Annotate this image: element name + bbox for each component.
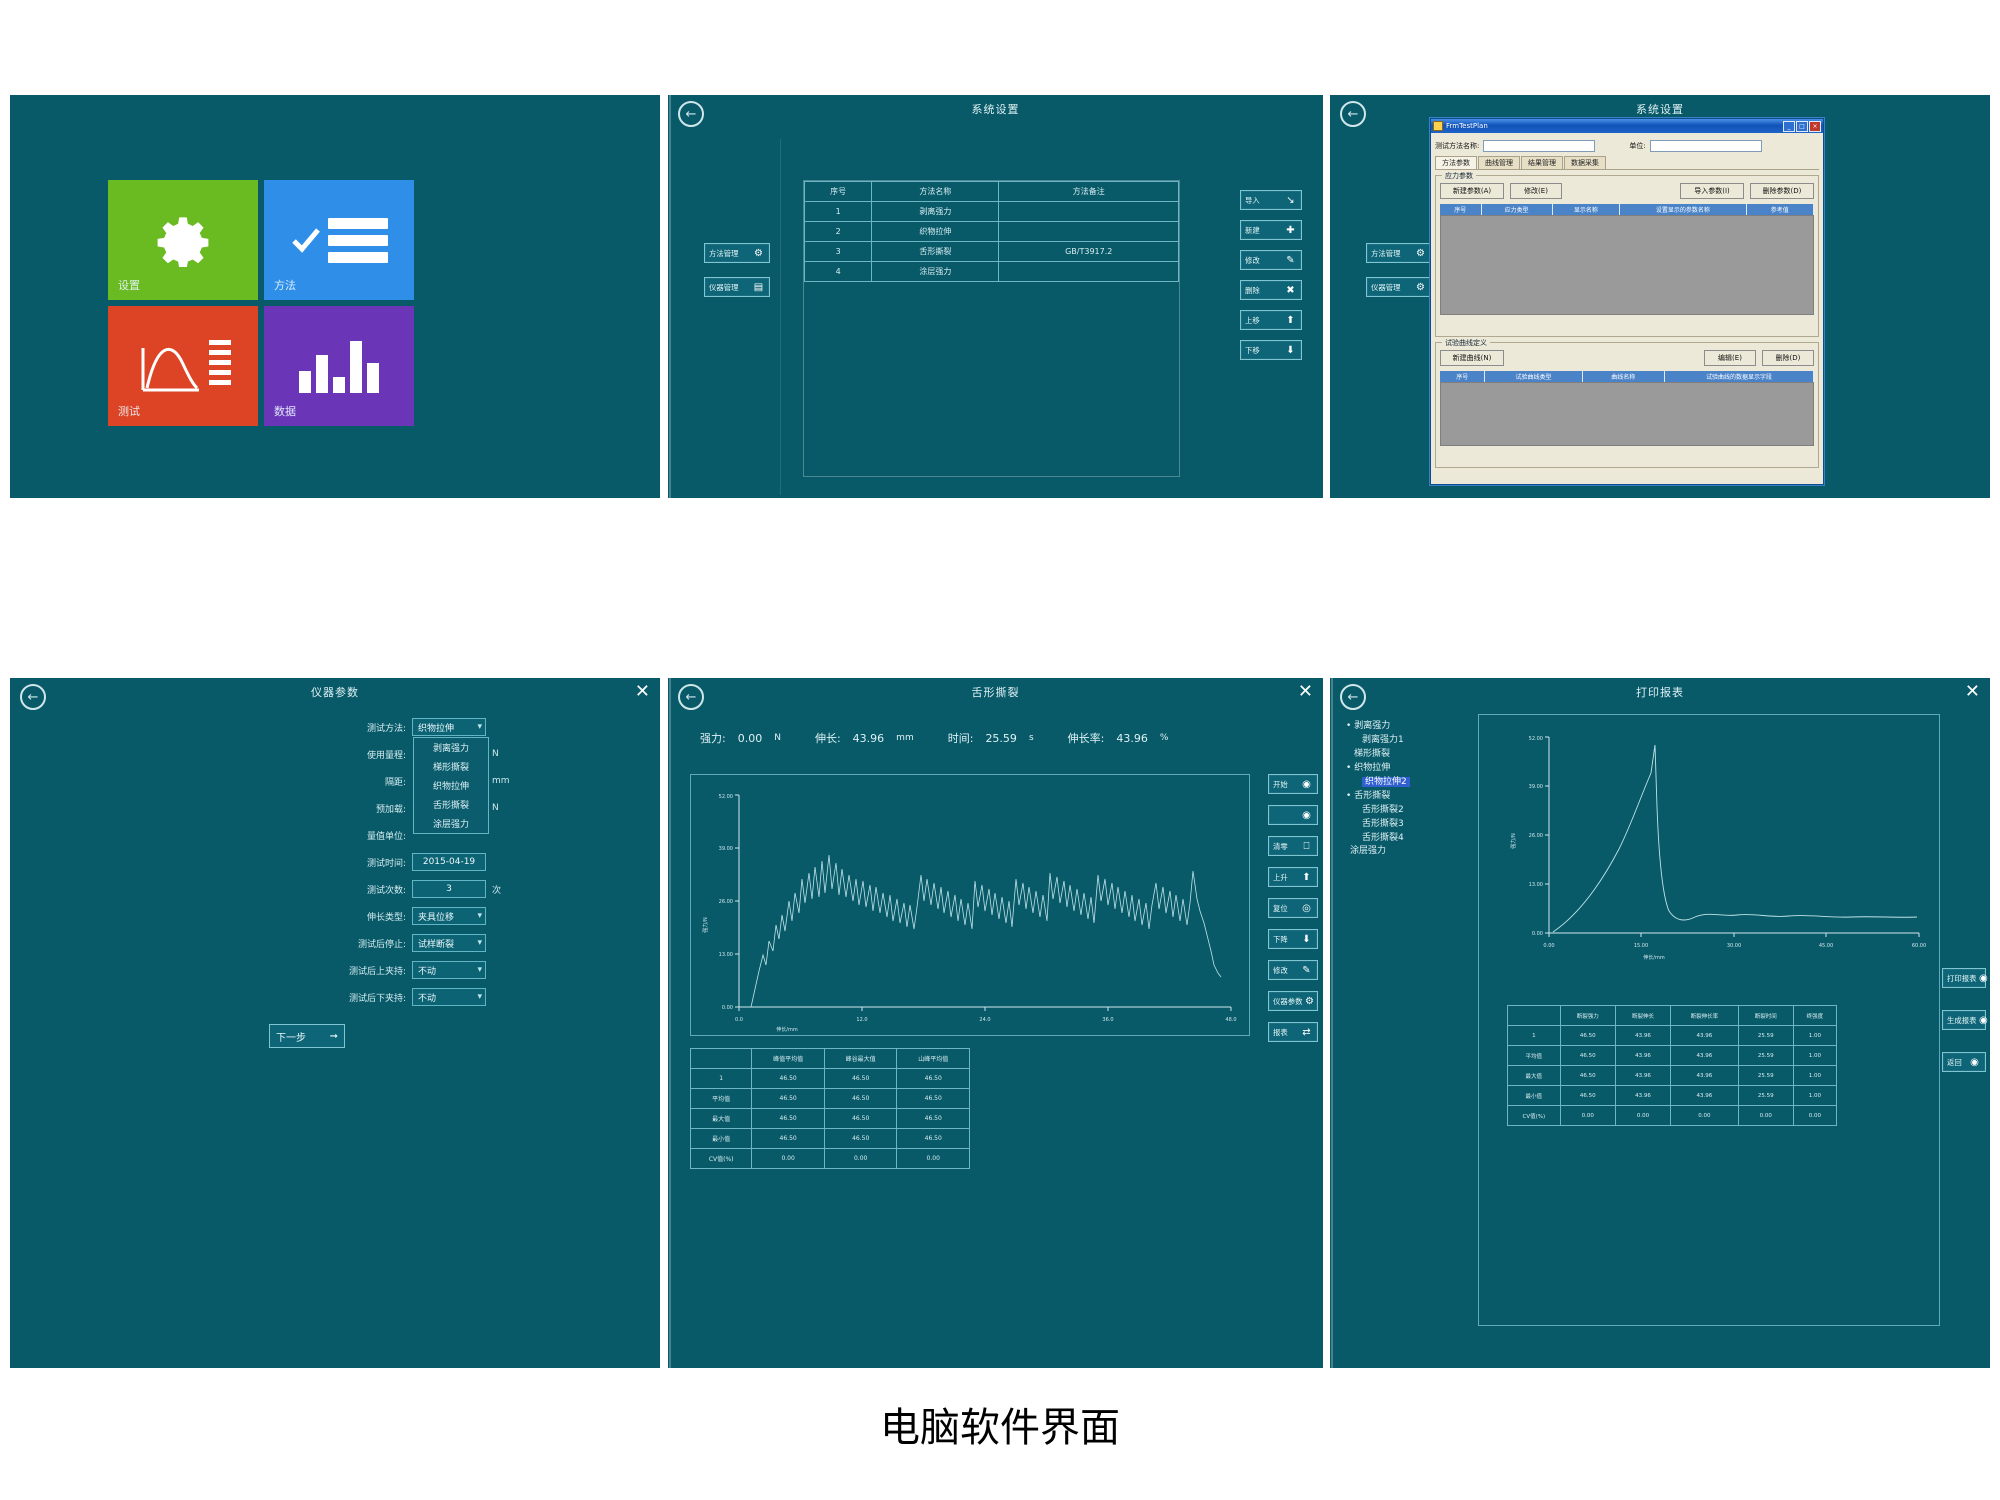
time-value: 25.59 <box>985 732 1017 745</box>
reset-icon: ⎕ <box>1300 840 1313 853</box>
cell: 46.50 <box>1560 1066 1615 1086</box>
table-row[interactable]: 146.5046.5046.50 <box>691 1069 970 1089</box>
cell: 43.96 <box>1615 1066 1670 1086</box>
cell: 43.96 <box>1671 1066 1738 1086</box>
tab-method-params[interactable]: 方法参数 <box>1435 156 1477 169</box>
swap-icon: ⇄ <box>1300 1026 1313 1039</box>
grid-body[interactable] <box>1440 382 1814 446</box>
maximize-button[interactable]: □ <box>1796 121 1808 132</box>
group-label: 应力参数 <box>1442 171 1476 181</box>
cell: 0.00 <box>824 1149 897 1169</box>
method-table[interactable]: 序号 方法名称 方法备注 1 剥离强力 2 织物拉伸 <box>804 181 1179 282</box>
field-label: 测试后停止: <box>320 937 406 950</box>
col-blank <box>1508 1006 1561 1026</box>
chevron-down-icon: ▾ <box>477 992 482 1002</box>
tree-item[interactable]: • 剥离强力 <box>1344 720 1462 734</box>
stop-condition-select[interactable]: 试样断裂 ▾ <box>412 934 486 952</box>
tile-test[interactable]: 测试 <box>108 306 258 426</box>
instrument-params-button[interactable]: 仪器参数 ⚙ <box>1268 991 1318 1011</box>
tab-result-manage[interactable]: 结果管理 <box>1521 156 1563 169</box>
close-icon[interactable]: ✕ <box>1298 683 1313 701</box>
report-button[interactable]: 报表 ⇄ <box>1268 1022 1318 1042</box>
field-label: 量值单位: <box>320 829 406 842</box>
col-index: 序号 <box>1440 371 1485 382</box>
col-break-time: 断裂时间 <box>1738 1006 1793 1026</box>
cell: 43.96 <box>1671 1046 1738 1066</box>
field-unit: mm <box>492 776 510 786</box>
select-value: 试样断裂 <box>418 937 454 950</box>
tree-label: 剥离强力1 <box>1362 735 1404 745</box>
input-value: 3 <box>446 884 452 894</box>
form-row-test-count: 测试次数: 3 次 <box>150 880 510 898</box>
form-row-test-method: 测试方法: 织物拉伸 ▾ 剥离强力 梯形撕裂 织物拉伸 舌形撕裂 涂层强力 <box>150 718 510 736</box>
print-circle-icon: ◉ <box>1979 972 1988 985</box>
report-tree[interactable]: • 剥离强力 剥离强力1 梯形撕裂 • 织物拉伸 织物拉伸2 • 舌形撕裂 舌形… <box>1344 720 1462 859</box>
table-row[interactable]: 146.5043.9643.9625.591.00 <box>1508 1026 1837 1046</box>
tile-label: 设置 <box>118 277 140 293</box>
panel-print-report: ← 打印报表 ✕ • 剥离强力 剥离强力1 梯形撕裂 • 织物拉伸 织物拉伸2 … <box>1330 678 1990 1368</box>
test-date-input[interactable]: 2015-04-19 <box>412 853 486 871</box>
cell: 0.00 <box>1793 1106 1836 1126</box>
window-buttons: _ □ × <box>1783 121 1821 132</box>
tree-label: 舌形撕裂4 <box>1362 833 1404 843</box>
y-axis-label: 强力/N <box>1510 833 1517 849</box>
tile-settings[interactable]: 设置 <box>108 180 258 300</box>
cell: 25.59 <box>1738 1066 1793 1086</box>
tree-item[interactable]: 舌形撕裂4 <box>1344 832 1462 846</box>
page-title: 舌形撕裂 <box>668 684 1323 700</box>
cell: 1 <box>691 1069 752 1089</box>
arrow-right-circle-icon: ➞ <box>330 1031 338 1042</box>
xtick-0: 0.0 <box>735 1017 743 1023</box>
edit-button[interactable]: 修改 ✎ <box>1268 960 1318 980</box>
delete-button[interactable]: 删除 ✖ <box>1240 280 1302 300</box>
cell: 0.00 <box>1738 1106 1793 1126</box>
app-icon <box>1433 121 1443 131</box>
cell: 46.50 <box>1560 1046 1615 1066</box>
stress-params-group: 应力参数 新建参数(A) 修改(E) 导入参数(I) 删除参数(D) 序号 应力… <box>1435 175 1819 337</box>
sysconfig-nav: 方法管理 ⚙ 仪器管理 ▤ <box>704 243 770 297</box>
cell: 43.96 <box>1671 1026 1738 1046</box>
play-circle-icon: ◉ <box>1300 778 1313 791</box>
option-item[interactable]: 梯形撕裂 <box>414 757 488 776</box>
field-label: 测试方法: <box>320 721 406 734</box>
cell: 1 <box>1508 1026 1561 1046</box>
unit-input[interactable] <box>1650 140 1762 152</box>
elongation-value: 43.96 <box>853 732 885 745</box>
cell: CV值(%) <box>1508 1106 1561 1126</box>
delete-param-button[interactable]: 删除参数(D) <box>1750 183 1814 199</box>
cell-index: 3 <box>805 242 872 262</box>
home-button[interactable]: 复位 ◎ <box>1268 898 1318 918</box>
cell-remark <box>999 262 1179 282</box>
tree-item[interactable]: 舌形撕裂2 <box>1344 804 1462 818</box>
xtick-0: 0.00 <box>1543 943 1554 949</box>
ytick-0: 0.00 <box>1532 931 1543 937</box>
table-row[interactable]: 3 舌形撕裂 GB/T3917.2 <box>805 242 1179 262</box>
panel-instrument-params: ← 仪器参数 ✕ 测试方法: 织物拉伸 ▾ 剥离强力 梯形撕裂 织物拉伸 舌形撕… <box>10 678 660 1368</box>
table-row[interactable]: CV值(%)0.000.000.00 <box>691 1149 970 1169</box>
table-row[interactable]: 最小值46.5043.9643.9625.591.00 <box>1508 1086 1837 1106</box>
grid-body[interactable] <box>1440 215 1814 315</box>
dialog-titlebar[interactable]: FrmTestPlan _ □ × <box>1431 119 1823 133</box>
col-index: 序号 <box>805 182 872 202</box>
col-peak-mean: 山峰平均值 <box>897 1049 970 1069</box>
btn-label: 下降 <box>1273 934 1288 944</box>
close-icon[interactable]: ✕ <box>635 683 650 701</box>
cell: 0.00 <box>897 1149 970 1169</box>
field-label: 测试后下夹持: <box>320 991 406 1004</box>
instrument-form: 测试方法: 织物拉伸 ▾ 剥离强力 梯形撕裂 织物拉伸 舌形撕裂 涂层强力 使用… <box>150 718 510 1048</box>
force-label: 强力: <box>700 730 726 746</box>
btn-label: 复位 <box>1273 903 1288 913</box>
nav-method-manage[interactable]: 方法管理 ⚙ <box>1366 243 1432 263</box>
tree-label: 织物拉伸2 <box>1362 777 1410 787</box>
cell: 46.50 <box>752 1109 825 1129</box>
cell: 46.50 <box>752 1069 825 1089</box>
field-unit: N <box>492 803 510 813</box>
form-row-upper-clamp: 测试后上夹持: 不动 ▾ <box>150 961 510 979</box>
cell: 0.00 <box>1615 1106 1670 1126</box>
xtick-1: 12.0 <box>856 1017 867 1023</box>
ytick-1: 13.00 <box>719 952 733 958</box>
field-unit: N <box>492 749 510 759</box>
cell: 43.96 <box>1615 1086 1670 1106</box>
bullet-icon: • <box>1346 791 1351 801</box>
tile-data[interactable]: 数据 <box>264 306 414 426</box>
cell-remark: GB/T3917.2 <box>999 242 1179 262</box>
table-row[interactable]: 4 涂层强力 <box>805 262 1179 282</box>
tree-item-selected[interactable]: 织物拉伸2 <box>1344 776 1462 790</box>
cell: 25.59 <box>1738 1046 1793 1066</box>
cell-name: 舌形撕裂 <box>872 242 999 262</box>
xtick-1: 15.00 <box>1634 943 1648 949</box>
grid-header: 序号 试验曲线类型 曲线名称 试验曲线的数据显示字段 <box>1440 371 1814 382</box>
ytick-1: 13.00 <box>1529 882 1543 888</box>
xtick-3: 36.0 <box>1102 1017 1113 1023</box>
tree-label: 剥离强力 <box>1354 721 1390 731</box>
panel-system-config-dialog: ← 系统设置 close-icon 方法管理 ⚙ 仪器管理 ⚙ FrmTestP… <box>1330 95 1990 498</box>
cell-name: 织物拉伸 <box>872 222 999 242</box>
doc-circle-icon: ◉ <box>1979 1014 1988 1027</box>
table-row[interactable]: 最大值46.5043.9643.9625.591.00 <box>1508 1066 1837 1086</box>
cell: 平均值 <box>691 1089 752 1109</box>
report-chart-svg: 0.00 13.00 26.00 39.00 52.00 强力/N 0.00 1… <box>1479 721 1937 971</box>
testplan-dialog[interactable]: FrmTestPlan _ □ × 测试方法名称: 单位: 方法参数 曲 <box>1430 118 1824 485</box>
xtick-4: 60.00 <box>1912 943 1926 949</box>
dialog-field-row: 测试方法名称: 单位: <box>1435 140 1819 152</box>
move-up-button[interactable]: 上移 ⬆ <box>1240 310 1302 330</box>
chevron-down-icon: ▾ <box>477 938 482 948</box>
arrow-up-icon: ⬆ <box>1284 314 1297 327</box>
ytick-4: 52.00 <box>1529 736 1543 742</box>
xtick-4: 48.0 <box>1225 1017 1236 1023</box>
field-unit: 次 <box>492 883 510 896</box>
col-reference: 参考值 <box>1747 204 1814 215</box>
btn-label: 修改 <box>1273 965 1288 975</box>
btn-label: 修改 <box>1245 255 1260 265</box>
testplan-name-input[interactable] <box>1483 140 1595 152</box>
field-label: 预加载: <box>320 802 406 815</box>
cell: 0.00 <box>1671 1106 1738 1126</box>
gear-icon: ⚙ <box>752 247 765 260</box>
report-actions: 打印报表 ◉ 生成报表 ◉ 返回 ◉ <box>1942 968 1986 1072</box>
elongation-type-select[interactable]: 夹具位移 ▾ <box>412 907 486 925</box>
tree-item[interactable]: 涂层强力 <box>1344 845 1462 859</box>
xtick-3: 45.00 <box>1819 943 1833 949</box>
return-button[interactable]: 返回 ◉ <box>1942 1052 1986 1072</box>
page-title: 仪器参数 <box>10 684 660 700</box>
pencil-icon: ✎ <box>1284 254 1297 267</box>
col-type: 应力类型 <box>1482 204 1553 215</box>
table-row[interactable]: 最小值46.5046.5046.50 <box>691 1129 970 1149</box>
col-break-elong-rate: 断裂伸长率 <box>1671 1006 1738 1026</box>
cell: 46.50 <box>1560 1026 1615 1046</box>
cell: 1.00 <box>1793 1086 1836 1106</box>
option-item[interactable]: 舌形撕裂 <box>414 795 488 814</box>
page-title: 系统设置 <box>1330 101 1990 117</box>
bullet-icon: • <box>1346 721 1351 731</box>
generate-report-button[interactable]: 生成报表 ◉ <box>1942 1010 1986 1030</box>
form-row-stop-condition: 测试后停止: 试样断裂 ▾ <box>150 934 510 952</box>
minimize-button[interactable]: _ <box>1783 121 1795 132</box>
form-row-lower-clamp: 测试后下夹持: 不动 ▾ <box>150 988 510 1006</box>
col-remark: 方法备注 <box>999 182 1179 202</box>
btn-label: 下移 <box>1245 345 1260 355</box>
close-button[interactable]: × <box>1809 121 1821 132</box>
page-title: 打印报表 <box>1330 684 1990 700</box>
cell: 46.50 <box>897 1129 970 1149</box>
elongation-rate-unit: % <box>1160 733 1169 743</box>
btn-label: 清零 <box>1273 841 1288 851</box>
field-label: 测试时间: <box>320 856 406 869</box>
col-peak-max: 峰谷最大值 <box>824 1049 897 1069</box>
cell: 46.50 <box>897 1089 970 1109</box>
cell: 43.96 <box>1615 1046 1670 1066</box>
table-row[interactable]: 1 剥离强力 <box>805 202 1179 222</box>
method-list-frame: 序号 方法名称 方法备注 1 剥离强力 2 织物拉伸 <box>803 180 1180 477</box>
cell: 1.00 <box>1793 1046 1836 1066</box>
move-down-button[interactable]: 下移 ⬇ <box>1240 340 1302 360</box>
elongation-rate-value: 43.96 <box>1116 732 1148 745</box>
nav-label: 方法管理 <box>1371 248 1400 258</box>
xtick-2: 24.0 <box>979 1017 990 1023</box>
field-label: 测试后上夹持: <box>320 964 406 977</box>
report-preview[interactable]: 0.00 13.00 26.00 39.00 52.00 强力/N 0.00 1… <box>1478 714 1940 1326</box>
cell: 最大值 <box>1508 1066 1561 1086</box>
readout-bar: 强力: 0.00 N 伸长: 43.96 mm 时间: 25.59 s 伸长率:… <box>700 730 1303 746</box>
lower-clamp-select[interactable]: 不动 ▾ <box>412 988 486 1006</box>
import-param-button[interactable]: 导入参数(I) <box>1680 183 1744 199</box>
col-display-name: 显示名称 <box>1553 204 1620 215</box>
cell: 1.00 <box>1793 1026 1836 1046</box>
import-icon: ↘ <box>1284 194 1297 207</box>
page-title: 系统设置 <box>668 101 1323 117</box>
down-button[interactable]: 下降 ⬇ <box>1268 929 1318 949</box>
plus-circle-icon: ✚ <box>1284 224 1297 237</box>
table-row[interactable]: CV值(%)0.000.000.000.000.00 <box>1508 1106 1837 1126</box>
panel-tear-test: ← 舌形撕裂 ✕ 强力: 0.00 N 伸长: 43.96 mm 时间: 25.… <box>668 678 1323 1368</box>
table-header-row: 峰值平均值 峰谷最大值 山峰平均值 <box>691 1049 970 1069</box>
nav-instrument-manage[interactable]: 仪器管理 ▤ <box>704 277 770 297</box>
tear-curve <box>751 855 1221 1007</box>
tile-label: 数据 <box>274 403 296 419</box>
tree-item[interactable]: • 织物拉伸 <box>1344 762 1462 776</box>
figure-caption: 电脑软件界面 <box>0 1395 2000 1453</box>
btn-label: 仪器参数 <box>1273 996 1302 1006</box>
table-header-row: 序号 方法名称 方法备注 <box>805 182 1179 202</box>
btn-label: 删除 <box>1245 285 1260 295</box>
field-label: 隔距: <box>320 775 406 788</box>
report-result-table-wrap: 断裂强力 断裂伸长 断裂伸长率 断裂时间 终强度 146.5043.9643.9… <box>1507 1005 1837 1126</box>
field-label: 测试次数: <box>320 883 406 896</box>
force-unit: N <box>774 733 781 743</box>
ytick-2: 26.00 <box>719 899 733 905</box>
new-button[interactable]: 新建 ✚ <box>1240 220 1302 240</box>
tear-actions: 开始 ◉ ◉ 清零 ⎕ 上升 ⬆ 复位 ◎ 下降 ⬇ 修改 ✎ 仪器参数 <box>1268 774 1318 1042</box>
cell: 最大值 <box>691 1109 752 1129</box>
cell: 46.50 <box>1560 1086 1615 1106</box>
curve-definition-grid[interactable]: 序号 试验曲线类型 曲线名称 试验曲线的数据显示字段 <box>1440 371 1814 446</box>
btn-label: 下一步 <box>276 1029 306 1044</box>
cell: 46.50 <box>824 1129 897 1149</box>
upper-clamp-select[interactable]: 不动 ▾ <box>412 961 486 979</box>
ytick-4: 52.00 <box>719 794 733 800</box>
tree-item[interactable]: 梯形撕裂 <box>1344 748 1462 762</box>
tree-label: 织物拉伸 <box>1354 763 1390 773</box>
arrow-down-icon: ⬇ <box>1284 344 1297 357</box>
close-x-icon: ✖ <box>1284 284 1297 297</box>
cell-remark <box>999 222 1179 242</box>
tile-label: 方法 <box>274 277 296 293</box>
report-result-table[interactable]: 断裂强力 断裂伸长 断裂伸长率 断裂时间 终强度 146.5043.9643.9… <box>1507 1005 1837 1126</box>
col-curve-name: 曲线名称 <box>1583 371 1665 382</box>
cell: 46.50 <box>897 1069 970 1089</box>
print-report-button[interactable]: 打印报表 ◉ <box>1942 968 1986 988</box>
elongation-label: 伸长: <box>815 730 841 746</box>
tree-item[interactable]: 剥离强力1 <box>1344 734 1462 748</box>
stress-params-grid[interactable]: 序号 应力类型 显示名称 设置显示的参数名称 参考值 <box>1440 204 1814 315</box>
table-row[interactable]: 最大值46.5046.5046.50 <box>691 1109 970 1129</box>
field-label: 单位: <box>1629 141 1645 151</box>
cell-name: 涂层强力 <box>872 262 999 282</box>
cell: 平均值 <box>1508 1046 1561 1066</box>
up-button[interactable]: 上升 ⬆ <box>1268 867 1318 887</box>
table-header-row: 断裂强力 断裂伸长 断裂伸长率 断裂时间 终强度 <box>1508 1006 1837 1026</box>
tear-chart[interactable]: 0.00 13.00 26.00 39.00 52.00 强力/N 0.0 12… <box>690 774 1250 1036</box>
edit-button[interactable]: 修改 ✎ <box>1240 250 1302 270</box>
start-button[interactable]: 开始 ◉ <box>1268 774 1318 794</box>
new-curve-button[interactable]: 新建曲线(N) <box>1440 350 1504 366</box>
devices-icon: ▤ <box>752 281 765 294</box>
tear-result-table[interactable]: 峰值平均值 峰谷最大值 山峰平均值 146.5046.5046.50 平均值46… <box>690 1048 970 1169</box>
tile-label: 测试 <box>118 403 140 419</box>
ytick-0: 0.00 <box>722 1005 733 1011</box>
btn-label: 返回 <box>1947 1057 1962 1067</box>
gear-icon: ⚙ <box>1414 281 1427 294</box>
edit-param-button[interactable]: 修改(E) <box>1510 183 1562 199</box>
btn-label: 开始 <box>1273 779 1288 789</box>
nav-instrument-manage[interactable]: 仪器管理 ⚙ <box>1366 277 1432 297</box>
test-method-select[interactable]: 织物拉伸 ▾ 剥离强力 梯形撕裂 织物拉伸 舌形撕裂 涂层强力 <box>412 718 486 736</box>
tree-item[interactable]: • 舌形撕裂 <box>1344 790 1462 804</box>
screenshot-root: 设置 方法 <box>0 0 2000 1500</box>
tree-label: 舌形撕裂3 <box>1362 819 1404 829</box>
tear-result-table-wrap: 峰值平均值 峰谷最大值 山峰平均值 146.5046.5046.50 平均值46… <box>690 1048 970 1169</box>
option-item[interactable]: 剥离强力 <box>414 738 488 757</box>
cell: CV值(%) <box>691 1149 752 1169</box>
panel-home: 设置 方法 <box>10 95 660 498</box>
cell-index: 2 <box>805 222 872 242</box>
select-value: 织物拉伸 <box>418 721 454 734</box>
arrow-down-icon: ⬇ <box>1300 933 1313 946</box>
cell: 46.50 <box>824 1109 897 1129</box>
cell: 43.96 <box>1671 1086 1738 1106</box>
close-icon[interactable]: ✕ <box>1965 683 1980 701</box>
table-row[interactable]: 平均值46.5043.9643.9625.591.00 <box>1508 1046 1837 1066</box>
xtick-2: 30.00 <box>1727 943 1741 949</box>
edit-curve-button[interactable]: 编辑(E) <box>1704 350 1756 366</box>
cell: 46.50 <box>897 1109 970 1129</box>
target-icon: ◎ <box>1300 902 1313 915</box>
x-axis-label: 伸长/mm <box>1643 954 1665 961</box>
table-row[interactable]: 平均值46.5046.5046.50 <box>691 1089 970 1109</box>
tree-label: 舌形撕裂2 <box>1362 805 1404 815</box>
tab-data-acquisition[interactable]: 数据采集 <box>1564 156 1606 169</box>
table-row[interactable]: 2 织物拉伸 <box>805 222 1179 242</box>
next-step-button[interactable]: 下一步 ➞ <box>269 1024 345 1048</box>
delete-curve-button[interactable]: 删除(D) <box>1762 350 1814 366</box>
new-param-button[interactable]: 新建参数(A) <box>1440 183 1504 199</box>
col-blank <box>691 1049 752 1069</box>
form-row-elongation-type: 伸长类型: 夹具位移 ▾ <box>150 907 510 925</box>
input-value: 2015-04-19 <box>423 857 475 867</box>
dialog-title: FrmTestPlan <box>1443 122 1783 130</box>
col-name: 方法名称 <box>872 182 999 202</box>
cell: 1.00 <box>1793 1066 1836 1086</box>
field-label: 伸长类型: <box>320 910 406 923</box>
bullet-icon: • <box>1346 763 1351 773</box>
stop-button[interactable]: ◉ <box>1268 805 1318 825</box>
tear-chart-svg: 0.00 13.00 26.00 39.00 52.00 强力/N 0.0 12… <box>691 775 1249 1035</box>
col-fields: 试验曲线的数据显示字段 <box>1665 371 1814 382</box>
sysconfig-nav-2: 方法管理 ⚙ 仪器管理 ⚙ <box>1366 243 1432 297</box>
ytick-3: 39.00 <box>719 846 733 852</box>
option-item[interactable]: 涂层强力 <box>414 814 488 833</box>
select-value: 不动 <box>418 991 436 1004</box>
tree-item[interactable]: 舌形撕裂3 <box>1344 818 1462 832</box>
nav-method-manage[interactable]: 方法管理 ⚙ <box>704 243 770 263</box>
cell: 0.00 <box>752 1149 825 1169</box>
import-button[interactable]: 导入 ↘ <box>1240 190 1302 210</box>
btn-label: 打印报表 <box>1947 973 1976 983</box>
test-method-dropdown[interactable]: 剥离强力 梯形撕裂 织物拉伸 舌形撕裂 涂层强力 <box>413 737 489 834</box>
test-count-input[interactable]: 3 <box>412 880 486 898</box>
tile-grid: 设置 方法 <box>108 180 414 426</box>
tab-curve-manage[interactable]: 曲线管理 <box>1478 156 1520 169</box>
cell: 0.00 <box>1560 1106 1615 1126</box>
btn-label: 生成报表 <box>1947 1015 1976 1025</box>
tile-method[interactable]: 方法 <box>264 180 414 300</box>
cell: 25.59 <box>1738 1086 1793 1106</box>
grid-header: 序号 应力类型 显示名称 设置显示的参数名称 参考值 <box>1440 204 1814 215</box>
reset-button[interactable]: 清零 ⎕ <box>1268 836 1318 856</box>
btn-label: 新建 <box>1245 225 1260 235</box>
field-label: 测试方法名称: <box>1435 141 1479 151</box>
option-item[interactable]: 织物拉伸 <box>414 776 488 795</box>
elongation-rate-label: 伸长率: <box>1068 730 1105 746</box>
time-unit: s <box>1029 733 1034 743</box>
